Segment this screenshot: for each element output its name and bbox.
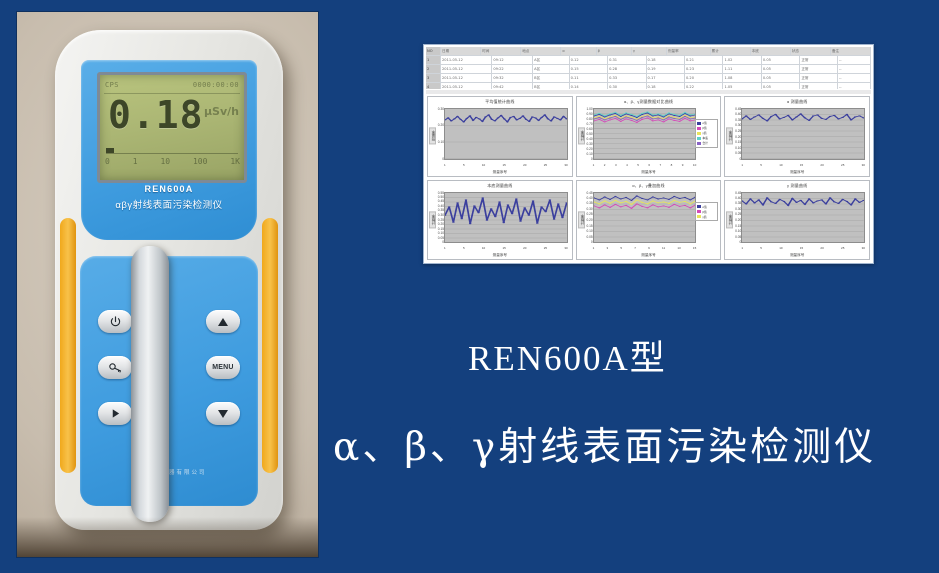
legend-label: α值	[702, 121, 706, 125]
chart-y-tick: 0.40	[735, 196, 741, 200]
table-cell: 3	[426, 74, 441, 82]
lcd-scale-tick: 1	[133, 157, 138, 171]
chart-y-tick: 0.10	[735, 146, 741, 150]
chart-x-tick: 20	[523, 246, 526, 252]
table-column-header: β	[597, 47, 632, 55]
chart-x-tick: 30	[564, 246, 567, 252]
chart-x-tick: 15	[800, 246, 803, 252]
chart-x-tick: 30	[564, 163, 567, 169]
chart-plot-area: 0.550.500.450.400.350.300.250.200.150.10…	[444, 192, 568, 244]
table-cell: 0.30	[608, 83, 646, 89]
chart-x-tick: 25	[841, 163, 844, 169]
chart-y-tick: 0.40	[735, 112, 741, 116]
table-column-header: 时间	[481, 47, 521, 55]
device-bottom-face: MENU 天津核安仪器有限公司	[80, 256, 258, 506]
chart-y-tick: 0.15	[586, 224, 592, 228]
lcd-status-bar: CPS 0000:00:00	[105, 78, 239, 91]
table-cell: 1.05	[723, 83, 761, 89]
table-column-header: 备注	[831, 47, 871, 55]
chart-plot-area: 0.450.400.350.300.250.200.150.100.050	[593, 192, 697, 244]
chart-x-axis-label: 测量序号	[428, 253, 572, 258]
lcd-scale-tick: 1K	[230, 157, 240, 171]
chart-x-tick: 6	[648, 163, 650, 169]
chart-y-tick: 0.90	[586, 112, 592, 116]
table-column-header: α	[561, 47, 596, 55]
chart-x-tick: 10	[482, 246, 485, 252]
chart-y-tick: 0.25	[586, 212, 592, 216]
legend-label: 合计	[702, 141, 708, 145]
down-button[interactable]	[206, 402, 240, 425]
table-cell: 1.11	[723, 65, 761, 73]
chart-y-tick: 0.30	[586, 142, 592, 146]
table-cell: 09:22	[492, 65, 533, 73]
lcd-scale-labels: 0 1 10 100 1K	[105, 157, 240, 171]
chart-x-tick: 25	[544, 246, 547, 252]
table-row[interactable]: 22011-05-1209:22A区0.150.280.190.231.110.…	[426, 65, 871, 74]
chart-x-tick: 20	[820, 163, 823, 169]
table-cell: 2011-05-12	[441, 83, 492, 89]
legend-color-swatch	[697, 137, 701, 140]
chart-y-axis-label: 剂量率	[429, 128, 436, 145]
chart-x-tick: 10	[482, 163, 485, 169]
device-handle-strap	[131, 246, 169, 522]
chart-y-tick: 0.45	[586, 191, 592, 195]
table-cell: 2	[426, 65, 441, 73]
table-cell: 0.20	[685, 74, 723, 82]
chart-x-tick: 3	[615, 163, 617, 169]
chart-x-tick: 9	[648, 246, 650, 252]
chart-y-tick: 0.70	[586, 122, 592, 126]
chart-x-tick: 10	[779, 163, 782, 169]
table-cell: 2011-05-12	[441, 56, 492, 64]
power-button[interactable]	[98, 310, 132, 333]
chart-x-tick: 15	[693, 246, 696, 252]
table-cell: 0.21	[685, 56, 723, 64]
legend-label: β值	[702, 126, 706, 130]
chart-x-axis-label: 测量序号	[428, 170, 572, 175]
table-column-header: 剂量率	[667, 47, 711, 55]
table-column-header: 累计	[711, 47, 751, 55]
chart-x-ticks: 12345678910	[593, 163, 697, 169]
table-cell: 0.31	[608, 56, 646, 64]
table-cell: 2011-05-12	[441, 74, 492, 82]
chart-y-tick: 0.20	[735, 135, 741, 139]
device-brand-label: REN600A	[81, 184, 257, 194]
chart-y-axis-label: 计数率	[578, 128, 585, 145]
legend-color-swatch	[697, 142, 701, 145]
chart-y-tick: 0.10	[438, 140, 444, 144]
triangle-up-icon	[217, 317, 229, 327]
play-button[interactable]	[98, 402, 132, 425]
chart-x-tick: 20	[523, 163, 526, 169]
table-cell: 09:12	[492, 56, 533, 64]
chart-y-tick: 0.30	[735, 207, 741, 211]
legend-label: γ值	[702, 131, 706, 135]
power-icon	[110, 316, 121, 327]
chart-y-tick: 0	[442, 240, 444, 244]
device-top-face: CPS 0000:00:00 0.18 μSv/h 0 1 10 100 1K …	[81, 60, 257, 240]
chart-title: 本底测量曲线	[428, 183, 572, 189]
chart-x-tick: 25	[841, 246, 844, 252]
table-cell: 0.05	[762, 65, 800, 73]
device-model-subtitle: αβγ射线表面污染检测仪	[81, 197, 257, 211]
chart-x-tick: 4	[626, 163, 628, 169]
lcd-bargraph	[106, 147, 238, 154]
chart-panel[interactable]: α 测量曲线计数率0.450.400.350.300.250.200.150.1…	[724, 96, 870, 177]
table-column-header: NO	[426, 47, 441, 55]
chart-x-ticks: 151015202530	[741, 246, 865, 252]
chart-y-tick: 0.55	[438, 191, 444, 195]
chart-y-tick: 0.30	[586, 207, 592, 211]
table-cell: 0.14	[570, 83, 608, 89]
chart-y-tick: 0.05	[438, 236, 444, 240]
chart-y-axis-label: 计数率	[429, 211, 436, 228]
chart-x-tick: 5	[463, 246, 465, 252]
chart-y-tick: 0.50	[586, 132, 592, 136]
chart-legend-item[interactable]: 合计	[697, 141, 716, 146]
legend-color-swatch	[697, 122, 701, 125]
table-row[interactable]: 12011-05-1209:12A区0.120.310.180.211.020.…	[426, 56, 871, 65]
chart-y-tick: 0.10	[438, 231, 444, 235]
chart-title: α 测量曲线	[725, 99, 869, 105]
table-cell: 0.12	[570, 56, 608, 64]
search-button[interactable]	[98, 356, 132, 379]
table-row[interactable]: 32011-05-1209:32B区0.110.330.170.201.080.…	[426, 74, 871, 83]
table-cell: 0.23	[685, 65, 723, 73]
menu-button[interactable]: MENU	[206, 356, 240, 379]
lcd-reading-unit: μSv/h	[204, 105, 239, 118]
chart-y-tick: 0.30	[735, 123, 741, 127]
chart-x-tick: 25	[544, 163, 547, 169]
handheld-device: CPS 0000:00:00 0.18 μSv/h 0 1 10 100 1K …	[55, 30, 283, 530]
lcd-status-right: 0000:00:00	[193, 81, 239, 89]
chart-y-tick: 0.80	[586, 117, 592, 121]
chart-y-tick: 0	[442, 157, 444, 161]
chart-x-tick: 13	[677, 246, 680, 252]
chart-x-tick: 5	[620, 246, 622, 252]
table-cell: 0.05	[762, 56, 800, 64]
table-cell: 正常	[800, 74, 838, 82]
chart-x-ticks: 13579111315	[593, 246, 697, 252]
chart-y-tick: 0.40	[586, 196, 592, 200]
chart-y-tick: 0.10	[586, 229, 592, 233]
table-cell: 正常	[800, 56, 838, 64]
chart-y-tick: 0.15	[438, 227, 444, 231]
chart-x-tick: 1	[444, 163, 446, 169]
table-cell: 1.08	[723, 74, 761, 82]
chart-panel[interactable]: α、β、γ测量数据对比曲线计数率1.000.900.800.700.600.50…	[576, 96, 722, 177]
chart-y-tick: 0.40	[586, 137, 592, 141]
table-cell: 1	[426, 56, 441, 64]
chart-y-tick: 0.10	[586, 152, 592, 156]
chart-x-tick: 5	[760, 163, 762, 169]
chart-x-axis-label: 测量序号	[577, 170, 721, 175]
chart-y-tick: 0.35	[438, 208, 444, 212]
chart-y-tick: 0.05	[735, 151, 741, 155]
chart-y-axis-label: 计数率	[578, 211, 585, 228]
chart-y-tick: 0.05	[586, 235, 592, 239]
measurement-data-table: NO日期时间地点αβγ剂量率累计本底状态备注12011-05-1209:12A区…	[426, 47, 871, 89]
table-cell: 0.28	[608, 65, 646, 73]
table-cell: --	[838, 83, 871, 89]
play-icon	[110, 408, 121, 419]
chart-panel[interactable]: α、β、γ叠加曲线计数率0.450.400.350.300.250.200.15…	[576, 180, 722, 261]
chart-y-tick: 0.25	[735, 212, 741, 216]
legend-color-swatch	[697, 127, 701, 130]
table-cell: 0.22	[685, 83, 723, 89]
chart-legend: α值β值γ值	[695, 202, 718, 221]
table-cell: B区	[533, 83, 570, 89]
chart-x-ticks: 151015202530	[444, 246, 568, 252]
chart-title: α、β、γ叠加曲线	[577, 183, 721, 189]
lcd-display: CPS 0000:00:00 0.18 μSv/h 0 1 10 100 1K	[97, 72, 247, 183]
chart-x-tick: 8	[671, 163, 673, 169]
chart-plot-area: 0.450.400.350.300.250.200.150.100.050	[741, 108, 865, 160]
table-header-row: NO日期时间地点αβγ剂量率累计本底状态备注	[426, 47, 871, 56]
menu-button-label: MENU	[212, 364, 233, 371]
chart-legend: α值β值γ值本底合计	[695, 119, 718, 148]
lcd-scale-tick: 100	[193, 157, 207, 171]
chart-plot-area: 1.000.900.800.700.600.500.400.300.200.10…	[593, 108, 697, 160]
rubber-grip-left	[60, 218, 76, 473]
chart-x-tick: 1	[444, 246, 446, 252]
table-cell: 0.19	[647, 65, 685, 73]
chart-y-tick: 0	[740, 157, 742, 161]
lcd-reading-value: 0.18	[108, 95, 204, 135]
chart-y-axis-label: 计数率	[726, 128, 733, 145]
table-cell: 0.05	[762, 74, 800, 82]
table-cell: B区	[533, 74, 570, 82]
table-cell: 0.17	[647, 74, 685, 82]
analysis-software-screenshot: NO日期时间地点αβγ剂量率累计本底状态备注12011-05-1209:12A区…	[423, 44, 874, 264]
legend-color-swatch	[697, 215, 701, 218]
table-column-header: 日期	[441, 47, 481, 55]
chart-x-tick: 1	[593, 163, 595, 169]
table-cell: --	[838, 65, 871, 73]
table-cell: 2011-05-12	[441, 65, 492, 73]
chart-y-tick: 0.30	[438, 107, 444, 111]
chart-y-tick: 0.50	[438, 195, 444, 199]
legend-color-swatch	[697, 132, 701, 135]
table-row[interactable]: 42011-05-1209:42B区0.140.300.180.221.050.…	[426, 83, 871, 89]
legend-color-swatch	[697, 205, 701, 208]
lcd-scale-tick: 0	[105, 157, 110, 171]
chart-x-tick: 1	[741, 163, 743, 169]
up-button[interactable]	[206, 310, 240, 333]
lcd-status-left: CPS	[105, 81, 119, 89]
table-cell: 0.18	[647, 83, 685, 89]
rubber-grip-right	[262, 218, 278, 473]
product-description-heading: α、β、γ射线表面污染检测仪	[333, 416, 933, 472]
chart-y-tick: 0.35	[735, 201, 741, 205]
table-chart-separator	[426, 90, 871, 94]
chart-y-tick: 0.20	[586, 218, 592, 222]
chart-y-tick: 0.05	[735, 235, 741, 239]
table-cell: 4	[426, 83, 441, 89]
table-cell: 0.33	[608, 74, 646, 82]
chart-x-axis-label: 测量序号	[577, 253, 721, 258]
chart-x-axis-label: 测量序号	[725, 170, 869, 175]
chart-x-tick: 3	[607, 246, 609, 252]
table-column-header: γ	[632, 47, 667, 55]
product-model-heading: REN600A型	[468, 330, 888, 381]
chart-panel-grid: 平均值统计曲线剂量率0.300.200.100151015202530测量序号α…	[427, 96, 870, 260]
chart-y-tick: 0	[591, 157, 593, 161]
table-cell: --	[838, 56, 871, 64]
chart-plot-area: 0.450.400.350.300.250.200.150.100.050	[741, 192, 865, 244]
triangle-down-icon	[217, 409, 229, 419]
legend-label: α值	[702, 205, 706, 209]
table-cell: 0.05	[762, 83, 800, 89]
table-column-header: 本底	[751, 47, 791, 55]
chart-x-tick: 1	[741, 246, 743, 252]
table-cell: 0.15	[570, 65, 608, 73]
chart-x-tick: 15	[502, 246, 505, 252]
chart-x-tick: 11	[662, 246, 665, 252]
chart-x-tick: 7	[660, 163, 662, 169]
table-cell: 1.02	[723, 56, 761, 64]
chart-legend-item[interactable]: γ值	[697, 214, 716, 219]
chart-y-tick: 0.60	[586, 127, 592, 131]
chart-x-tick: 10	[693, 163, 696, 169]
table-cell: 09:32	[492, 74, 533, 82]
chart-x-tick: 30	[862, 246, 865, 252]
chart-y-tick: 0.20	[586, 147, 592, 151]
key-icon	[109, 362, 122, 373]
table-cell: 正常	[800, 83, 838, 89]
chart-y-tick: 0.45	[438, 199, 444, 203]
chart-y-tick: 0.35	[586, 201, 592, 205]
chart-y-tick: 0.30	[438, 213, 444, 217]
chart-x-tick: 15	[502, 163, 505, 169]
chart-x-tick: 5	[760, 246, 762, 252]
chart-y-tick: 0.45	[735, 191, 741, 195]
table-cell: 0.11	[570, 74, 608, 82]
table-cell: A区	[533, 56, 570, 64]
chart-y-tick: 0	[591, 240, 593, 244]
table-column-header: 状态	[791, 47, 831, 55]
chart-y-tick: 0.20	[438, 123, 444, 127]
chart-x-tick: 30	[862, 163, 865, 169]
chart-x-tick: 5	[463, 163, 465, 169]
chart-y-tick: 0.10	[735, 229, 741, 233]
table-column-header: 地点	[521, 47, 561, 55]
chart-y-tick: 0.20	[735, 218, 741, 222]
chart-y-tick: 0.15	[735, 224, 741, 228]
device-manufacturer-text: 天津核安仪器有限公司	[80, 468, 258, 476]
chart-y-axis-label: 计数率	[726, 211, 733, 228]
legend-label: 本底	[702, 136, 708, 140]
table-cell: A区	[533, 65, 570, 73]
chart-y-tick: 0.20	[438, 222, 444, 226]
chart-x-ticks: 151015202530	[444, 163, 568, 169]
chart-panel[interactable]: 平均值统计曲线剂量率0.300.200.100151015202530测量序号	[427, 96, 573, 177]
chart-y-tick: 0.15	[735, 140, 741, 144]
chart-x-tick: 20	[820, 246, 823, 252]
chart-x-tick: 7	[634, 246, 636, 252]
chart-x-tick: 1	[593, 246, 595, 252]
chart-title: γ 测量曲线	[725, 183, 869, 189]
chart-x-tick: 9	[682, 163, 684, 169]
chart-plot-area: 0.300.200.100	[444, 108, 568, 160]
legend-color-swatch	[697, 210, 701, 213]
chart-x-tick: 15	[800, 163, 803, 169]
table-cell: --	[838, 74, 871, 82]
chart-y-tick: 1.00	[586, 107, 592, 111]
table-cell: 0.18	[647, 56, 685, 64]
chart-x-ticks: 151015202530	[741, 163, 865, 169]
legend-label: γ值	[702, 215, 706, 219]
chart-x-tick: 2	[604, 163, 606, 169]
chart-x-tick: 5	[637, 163, 639, 169]
lcd-scale-tick: 10	[160, 157, 170, 171]
table-cell: 09:42	[492, 83, 533, 89]
chart-y-tick: 0	[740, 240, 742, 244]
chart-y-tick: 0.40	[438, 204, 444, 208]
chart-y-tick: 0.25	[438, 218, 444, 222]
chart-x-tick: 10	[779, 246, 782, 252]
chart-y-tick: 0.25	[735, 129, 741, 133]
chart-x-axis-label: 测量序号	[725, 253, 869, 258]
product-photo: CPS 0000:00:00 0.18 μSv/h 0 1 10 100 1K …	[17, 12, 318, 557]
chart-title: α、β、γ测量数据对比曲线	[577, 99, 721, 105]
chart-panel[interactable]: 本底测量曲线计数率0.550.500.450.400.350.300.250.2…	[427, 180, 573, 261]
chart-y-tick: 0.35	[735, 118, 741, 122]
chart-y-tick: 0.45	[735, 107, 741, 111]
chart-panel[interactable]: γ 测量曲线计数率0.450.400.350.300.250.200.150.1…	[724, 180, 870, 261]
chart-title: 平均值统计曲线	[428, 99, 572, 105]
legend-label: β值	[702, 210, 706, 214]
table-cell: 正常	[800, 65, 838, 73]
